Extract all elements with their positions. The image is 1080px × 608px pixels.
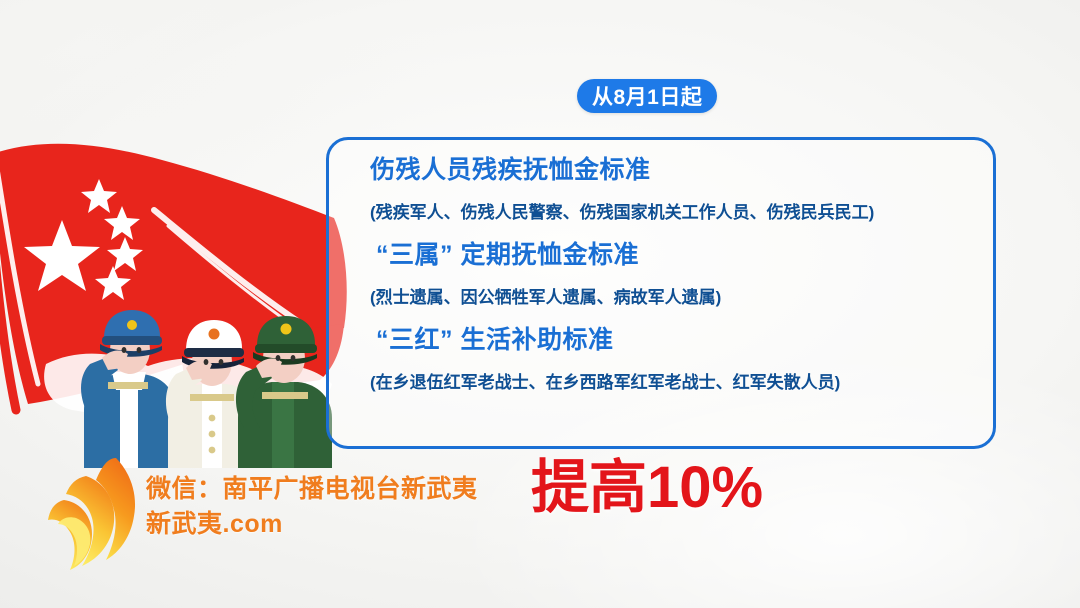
station-flame-logo-icon: [42, 452, 154, 580]
increase-callout: 提高10%: [531, 459, 763, 517]
section-2-subtitle: (烈士遗属、因公牺牲军人遗属、病故军人遗属): [370, 289, 976, 308]
section-3-title: “三红” 生活补助标准: [370, 327, 976, 355]
section-1-title: 伤残人员残疾抚恤金标准: [370, 157, 976, 185]
broadcast-graphic-stage: 从8月1日起 伤残人员残疾抚恤金标准 (残疾军人、伤残人民警察、伤残国家机关工作…: [0, 0, 1080, 608]
watermark-website-line: 新武夷.com: [146, 512, 478, 537]
standards-panel-content: 伤残人员残疾抚恤金标准 (残疾军人、伤残人民警察、伤残国家机关工作人员、伤残民兵…: [326, 137, 996, 449]
station-watermark-text: 微信：南平广播电视台新武夷 新武夷.com: [146, 477, 478, 537]
section-1-subtitle: (残疾军人、伤残人民警察、伤残国家机关工作人员、伤残民兵民工): [370, 204, 976, 223]
effective-date-badge: 从8月1日起: [577, 79, 717, 113]
watermark-wechat-line: 微信：南平广播电视台新武夷: [146, 477, 478, 502]
section-3-subtitle: (在乡退伍红军老战士、在乡西路军红军老战士、红军失散人员): [370, 374, 976, 393]
section-2-title: “三属” 定期抚恤金标准: [370, 242, 976, 270]
